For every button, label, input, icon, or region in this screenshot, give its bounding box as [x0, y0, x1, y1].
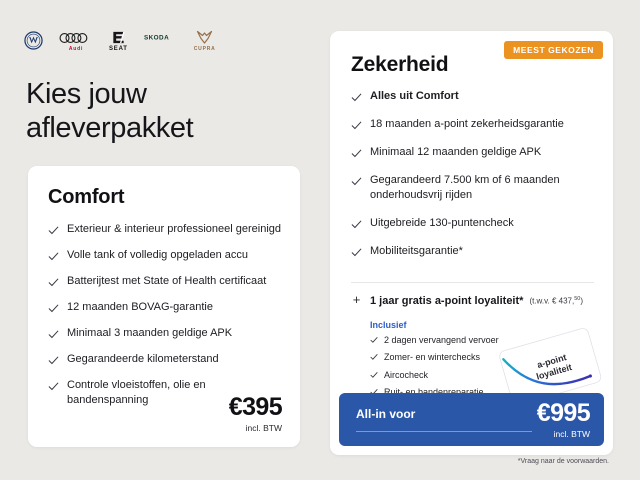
comfort-feature-list: Exterieur & interieur professioneel gere… [48, 222, 284, 420]
zekerheid-price: €995 [537, 401, 590, 426]
section-divider [351, 282, 594, 283]
zekerheid-feature-text: Alles uit Comfort [370, 89, 459, 104]
check-icon [48, 225, 59, 236]
headline-line-1: Kies jouw [26, 78, 306, 112]
list-item: Batterijtest met State of Health certifi… [48, 274, 284, 289]
list-item: Aircocheck [370, 369, 550, 381]
brand-logo-bar: Audi SEAT SKODA SKODA CUPRA [24, 26, 216, 56]
footnote: *Vraag naar de voorwaarden. [330, 458, 613, 465]
comfort-price-block: €395 incl. BTW [229, 395, 282, 433]
loyalty-value: (t.w.v. € 437,50) [529, 296, 583, 306]
zekerheid-title: Zekerheid [351, 53, 448, 77]
cupra-logo-icon: CUPRA [194, 30, 216, 52]
loyalty-headline-row: + 1 jaar gratis a-point loyaliteit* (t.w… [351, 293, 603, 307]
zekerheid-price-note: incl. BTW [537, 429, 590, 439]
comfort-price: €395 [229, 395, 282, 420]
check-icon [351, 148, 362, 159]
comfort-feature-text: Minimaal 3 maanden geldige APK [67, 326, 232, 341]
check-icon [48, 303, 59, 314]
check-icon [351, 120, 362, 131]
zekerheid-feature-text: Uitgebreide 130-puntencheck [370, 216, 514, 231]
seat-logo-icon: SEAT [109, 30, 128, 52]
zekerheid-feature-text: 18 maanden a-point zekerheidsgarantie [370, 117, 564, 132]
inclusief-label: Inclusief [370, 320, 407, 330]
inclusief-item-text: 2 dagen vervangend vervoer [384, 334, 499, 346]
list-item: Alles uit Comfort [351, 89, 597, 104]
loyalty-value-suffix: ) [580, 297, 583, 306]
list-item: 12 maanden BOVAG-garantie [48, 300, 284, 315]
list-item: Mobiliteitsgarantie* [351, 244, 597, 259]
seat-caption: SEAT [109, 46, 128, 52]
list-item: Zomer- en winterchecks [370, 351, 550, 363]
comfort-price-note: incl. BTW [229, 423, 282, 433]
list-item: Volle tank of volledig opgeladen accu [48, 248, 284, 263]
promo-banner: Audi SEAT SKODA SKODA CUPRA Kies jouw af… [0, 0, 640, 480]
cupra-caption: CUPRA [194, 46, 216, 52]
check-icon [351, 92, 362, 103]
zekerheid-price-footer: All-in voor €995 incl. BTW [339, 393, 604, 446]
check-icon [351, 247, 362, 258]
audi-caption: Audi [69, 46, 83, 52]
check-icon [370, 353, 378, 361]
comfort-feature-text: Exterieur & interieur professioneel gere… [67, 222, 281, 237]
svg-text:SKODA: SKODA [144, 35, 169, 42]
loyalty-value-prefix: (t.w.v. € 437, [529, 297, 574, 306]
check-icon [48, 251, 59, 262]
package-card-comfort[interactable]: Comfort Exterieur & interieur profession… [28, 166, 300, 447]
zekerheid-feature-text: Gegarandeerd 7.500 km of 6 maanden onder… [370, 173, 597, 203]
page-title: Kies jouw afleverpakket [26, 78, 306, 146]
check-icon [48, 381, 59, 392]
check-icon [351, 176, 362, 187]
check-icon [48, 355, 59, 366]
check-icon [370, 371, 378, 379]
list-item: Gegarandeerd 7.500 km of 6 maanden onder… [351, 173, 597, 203]
list-item: Minimaal 12 maanden geldige APK [351, 145, 597, 160]
headline-line-2: afleverpakket [26, 112, 306, 146]
zekerheid-feature-text: Minimaal 12 maanden geldige APK [370, 145, 541, 160]
comfort-title: Comfort [48, 186, 124, 209]
list-item: Uitgebreide 130-puntencheck [351, 216, 597, 231]
list-item: 2 dagen vervangend vervoer [370, 334, 550, 346]
comfort-feature-text: 12 maanden BOVAG-garantie [67, 300, 213, 315]
list-item: Minimaal 3 maanden geldige APK [48, 326, 284, 341]
volkswagen-logo-icon [24, 31, 43, 51]
list-item: 18 maanden a-point zekerheidsgarantie [351, 117, 597, 132]
inclusief-item-text: Aircocheck [384, 369, 428, 381]
inclusief-item-text: Zomer- en winterchecks [384, 351, 480, 363]
zekerheid-feature-text: Mobiliteitsgarantie* [370, 244, 463, 259]
check-icon [48, 277, 59, 288]
loyalty-title: 1 jaar gratis a-point loyaliteit* [370, 295, 523, 307]
skoda-logo-icon: SKODA SKODA [144, 32, 178, 50]
comfort-feature-text: Volle tank of volledig opgeladen accu [67, 248, 248, 263]
list-item: Exterieur & interieur professioneel gere… [48, 222, 284, 237]
footer-rule [356, 431, 532, 432]
zekerheid-price-block: €995 incl. BTW [537, 401, 590, 439]
check-icon [370, 336, 378, 344]
comfort-feature-text: Gegarandeerde kilometerstand [67, 352, 219, 367]
package-card-zekerheid[interactable]: MEEST GEKOZEN Zekerheid Alles uit Comfor… [330, 31, 613, 455]
check-icon [351, 219, 362, 230]
audi-logo-icon: Audi [59, 31, 93, 52]
check-icon [48, 329, 59, 340]
list-item: Gegarandeerde kilometerstand [48, 352, 284, 367]
allin-label: All-in voor [356, 407, 415, 421]
status-badge: MEEST GEKOZEN [504, 41, 603, 59]
plus-icon: + [351, 293, 362, 306]
comfort-feature-text: Batterijtest met State of Health certifi… [67, 274, 266, 289]
zekerheid-feature-list: Alles uit Comfort 18 maanden a-point zek… [351, 89, 597, 272]
